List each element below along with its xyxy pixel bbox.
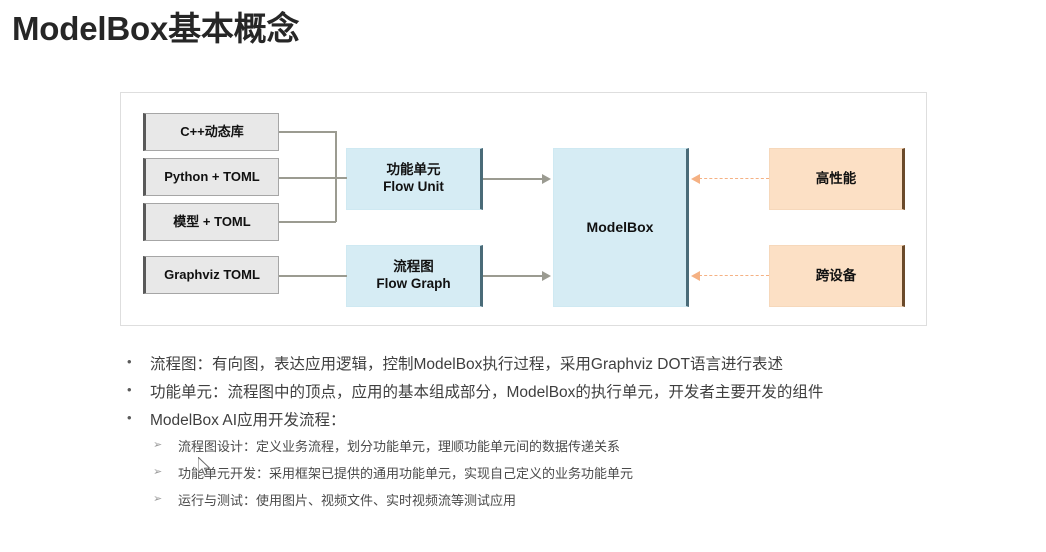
concept-diagram: C++动态库 Python + TOML 模型 + TOML Graphviz … — [120, 92, 927, 326]
arrowhead-flow-unit-to-modelbox — [542, 174, 551, 184]
diagram-node-modelbox-core: ModelBox — [553, 148, 689, 307]
diagram-node-python-toml: Python + TOML — [143, 158, 279, 196]
connector-cpp-stub — [279, 131, 336, 133]
chevron-right-icon: ➢ — [150, 463, 178, 482]
connector-sources-to-flow-unit — [279, 177, 347, 179]
node-label: Graphviz TOML — [164, 267, 260, 283]
diagram-node-high-performance: 高性能 — [769, 148, 905, 210]
bullet-text: ModelBox AI应用开发流程： — [150, 408, 346, 430]
bullet-dot-icon: • — [118, 352, 150, 372]
node-label: ModelBox — [587, 219, 654, 237]
bullet-dot-icon: • — [118, 380, 150, 400]
arrowhead-cross-device — [691, 271, 700, 281]
chevron-right-icon: ➢ — [150, 490, 178, 509]
sub-bullet-text: 功能单元开发：采用框架已提供的通用功能单元，实现自己定义的业务功能单元 — [178, 463, 633, 482]
diagram-node-flow-unit: 功能单元 Flow Unit — [346, 148, 483, 210]
diagram-node-flow-graph: 流程图 Flow Graph — [346, 245, 483, 307]
node-label: 高性能 — [816, 171, 857, 188]
connector-flow-graph-to-modelbox — [483, 275, 543, 277]
page-title: ModelBox基本概念 — [12, 2, 299, 50]
diagram-node-model-toml: 模型 + TOML — [143, 203, 279, 241]
connector-cross-device-to-modelbox — [699, 275, 769, 276]
connector-high-performance-to-modelbox — [699, 178, 769, 179]
list-item: • 流程图：有向图，表达应用逻辑，控制ModelBox执行过程，采用Graphv… — [118, 352, 1018, 380]
diagram-node-graphviz-toml: Graphviz TOML — [143, 256, 279, 294]
arrowhead-high-performance — [691, 174, 700, 184]
sub-bullet-text: 运行与测试：使用图片、视频文件、实时视频流等测试应用 — [178, 490, 516, 509]
node-label: 跨设备 — [816, 268, 857, 285]
sub-list-item: ➢ 功能单元开发：采用框架已提供的通用功能单元，实现自己定义的业务功能单元 — [118, 463, 1018, 490]
diagram-node-cross-device: 跨设备 — [769, 245, 905, 307]
sub-bullet-text: 流程图设计：定义业务流程，划分功能单元，理顺功能单元间的数据传递关系 — [178, 436, 620, 455]
bullet-text: 功能单元：流程图中的顶点，应用的基本组成部分，ModelBox的执行单元，开发者… — [150, 380, 823, 402]
connector-graphviz-to-flow-graph — [279, 275, 347, 277]
bullet-dot-icon: • — [118, 408, 150, 428]
chevron-right-icon: ➢ — [150, 436, 178, 455]
bullet-text: 流程图：有向图，表达应用逻辑，控制ModelBox执行过程，采用Graphviz… — [150, 352, 783, 374]
bullet-list: • 流程图：有向图，表达应用逻辑，控制ModelBox执行过程，采用Graphv… — [118, 352, 1018, 517]
node-label: 模型 + TOML — [173, 214, 250, 230]
connector-model-stub — [279, 221, 336, 223]
node-label: Python + TOML — [164, 169, 259, 185]
node-label: 功能单元 Flow Unit — [383, 162, 444, 196]
node-label: C++动态库 — [180, 124, 244, 140]
list-item: • ModelBox AI应用开发流程： — [118, 408, 1018, 436]
list-item: • 功能单元：流程图中的顶点，应用的基本组成部分，ModelBox的执行单元，开… — [118, 380, 1018, 408]
arrowhead-flow-graph-to-modelbox — [542, 271, 551, 281]
sub-list-item: ➢ 运行与测试：使用图片、视频文件、实时视频流等测试应用 — [118, 490, 1018, 517]
diagram-node-cpp-lib: C++动态库 — [143, 113, 279, 151]
node-label: 流程图 Flow Graph — [376, 259, 450, 293]
sub-list-item: ➢ 流程图设计：定义业务流程，划分功能单元，理顺功能单元间的数据传递关系 — [118, 436, 1018, 463]
connector-flow-unit-to-modelbox — [483, 178, 543, 180]
